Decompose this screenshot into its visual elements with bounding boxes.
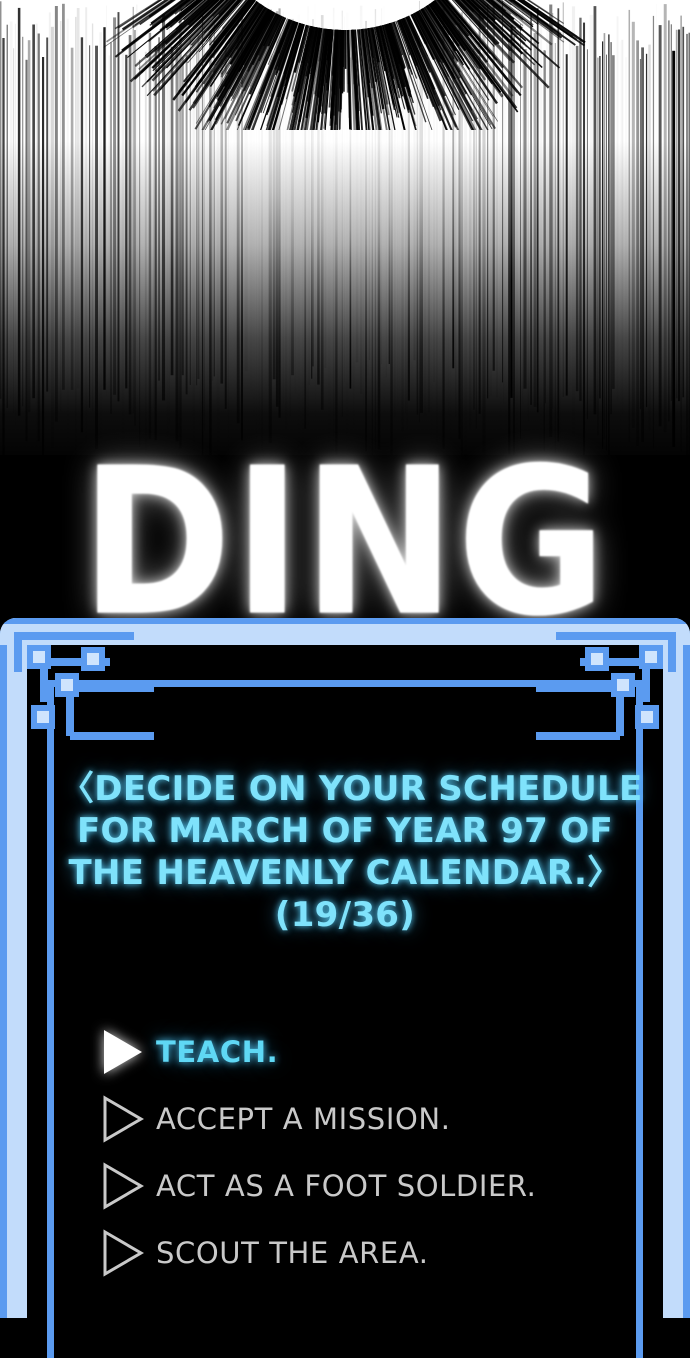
greek-key-corner-icon <box>14 632 154 752</box>
option-scout-the-area[interactable]: SCOUT THE AREA. <box>100 1219 650 1286</box>
play-triangle-outline-icon <box>100 1094 156 1144</box>
speed-line-background <box>0 0 690 470</box>
option-label: ACCEPT A MISSION. <box>156 1102 451 1136</box>
play-triangle-filled-icon <box>100 1027 156 1077</box>
option-label: SCOUT THE AREA. <box>156 1236 429 1270</box>
dialogue-text: 〈DECIDE ON YOUR SCHEDULE FOR MARCH OF YE… <box>60 768 630 936</box>
greek-key-corner-icon <box>536 632 676 752</box>
options-list: TEACH. ACCEPT A MISSION. ACT AS A FOOT S… <box>100 1018 650 1286</box>
dialogue-panel: 〈DECIDE ON YOUR SCHEDULE FOR MARCH OF YE… <box>0 618 690 1318</box>
radial-burst-icon <box>85 0 605 130</box>
option-label: TEACH. <box>156 1035 278 1069</box>
dialogue-line-2: FOR MARCH OF YEAR 97 OF <box>60 810 630 852</box>
dialogue-line-1: 〈DECIDE ON YOUR SCHEDULE <box>60 768 630 810</box>
play-triangle-outline-icon <box>100 1228 156 1278</box>
play-triangle-outline-icon <box>100 1161 156 1211</box>
dialogue-line-3: THE HEAVENLY CALENDAR.〉 <box>60 852 630 894</box>
option-teach[interactable]: TEACH. <box>100 1018 650 1085</box>
option-accept-a-mission[interactable]: ACCEPT A MISSION. <box>100 1085 650 1152</box>
option-label: ACT AS A FOOT SOLDIER. <box>156 1169 536 1203</box>
option-act-as-a-foot-soldier[interactable]: ACT AS A FOOT SOLDIER. <box>100 1152 650 1219</box>
dialogue-counter: (19/36) <box>60 894 630 936</box>
